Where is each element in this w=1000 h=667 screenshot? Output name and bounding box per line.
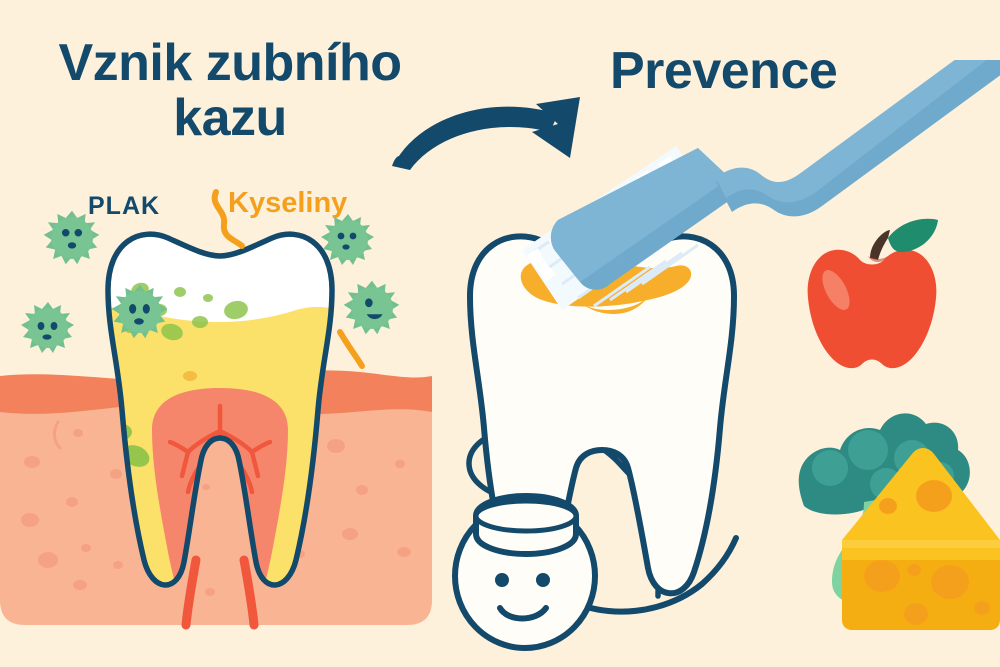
dental-floss-container <box>455 496 595 648</box>
apple <box>808 219 938 368</box>
apple-leaf <box>888 219 938 252</box>
infographic-canvas: Vznik zubního kazu Prevence PLAK Kyselin… <box>0 0 1000 667</box>
floss-face-left-eye <box>495 573 509 587</box>
bacteria-icon <box>321 214 374 265</box>
page-title-right: Prevence <box>610 44 837 99</box>
label-plak: PLAK <box>88 192 160 221</box>
bacteria-icon <box>21 302 74 353</box>
prevention-scene <box>430 60 1000 660</box>
page-title-left: Vznik zubního kazu <box>40 36 420 145</box>
bacteria-icon <box>344 281 400 335</box>
floss-face-right-eye <box>536 573 550 587</box>
label-kyseliny: Kyseliny <box>228 187 347 220</box>
tooth-decay-cross-section <box>0 180 440 640</box>
